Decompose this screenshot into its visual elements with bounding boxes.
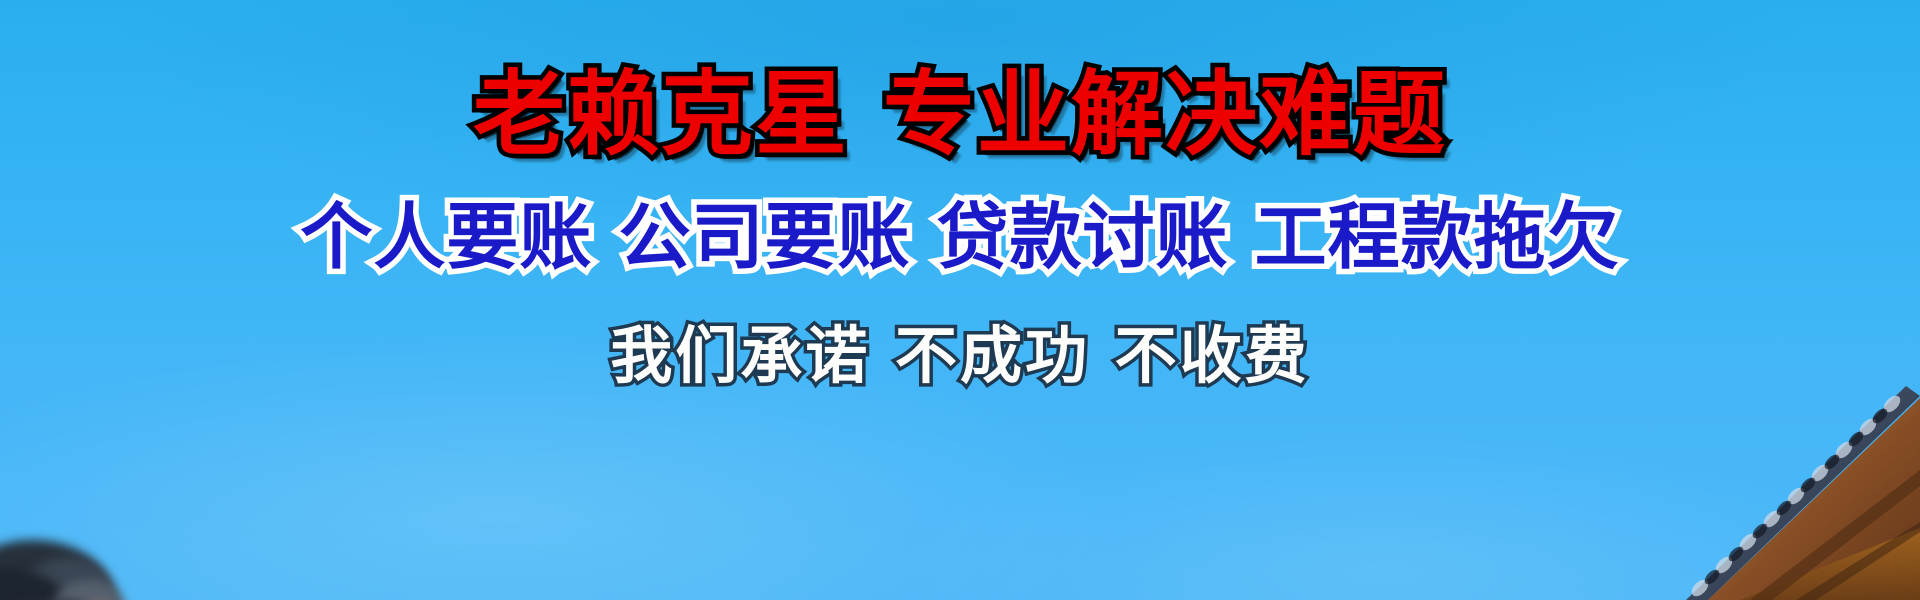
advertising-banner: 老赖克星 专业解决难题 个人要账 公司要账 贷款讨账 工程款拖欠 我们承诺 不成… [0,0,1920,600]
foliage-blob [0,540,108,600]
sky-background [0,0,1920,600]
roof-slope [1708,398,1920,600]
tiled-roof-decoration [1590,370,1920,600]
roof-tile-shadows [1702,406,1890,587]
roof-plank-band [1740,528,1920,600]
services-list-line: 个人要账 公司要账 贷款讨账 工程款拖欠 [300,200,1619,276]
guarantee-line: 我们承诺 不成功 不收费 [610,323,1309,388]
headline-primary: 老赖克星 专业解决难题 [473,68,1447,162]
foliage-blob [20,558,116,600]
roof-tile-highlights [1689,393,1904,600]
foliage-blob [0,568,68,600]
banner-text-stack: 老赖克星 专业解决难题 个人要账 公司要账 贷款讨账 工程款拖欠 我们承诺 不成… [0,0,1920,600]
foliage-silhouette-decoration [0,496,178,600]
roof-ridge-tiles [1686,386,1920,600]
foliage-blob [52,580,126,600]
